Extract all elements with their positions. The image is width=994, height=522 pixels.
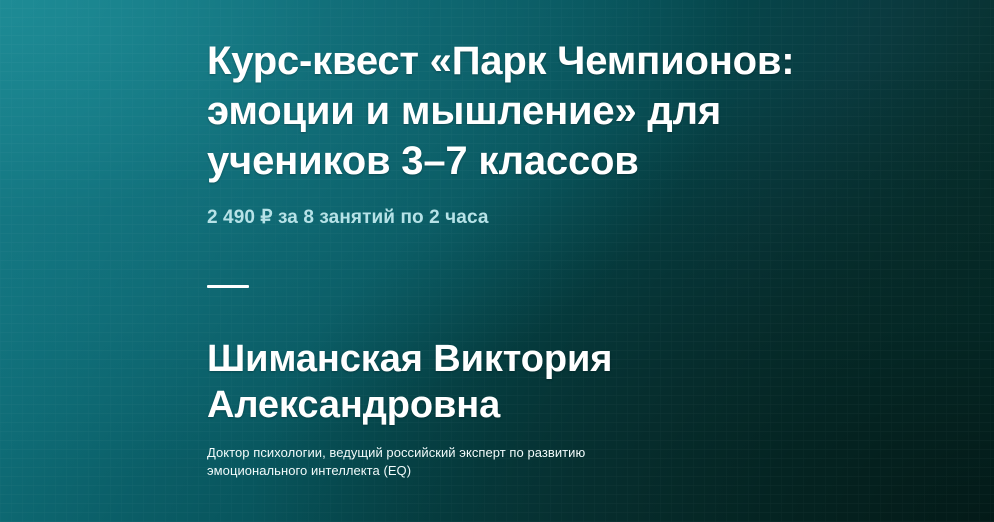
speaker-name: Шиманская Виктория Александровна <box>207 336 827 428</box>
speaker-bio: Доктор психологии, ведущий российский эк… <box>207 444 627 480</box>
section-divider <box>207 285 249 288</box>
course-title: Курс-квест «Парк Чемпионов: эмоции и мыш… <box>207 36 867 186</box>
presentation-slide: Курс-квест «Парк Чемпионов: эмоции и мыш… <box>0 0 994 522</box>
slide-content: Курс-квест «Парк Чемпионов: эмоции и мыш… <box>207 0 907 522</box>
course-price: 2 490 ₽ за 8 занятий по 2 часа <box>207 205 489 231</box>
